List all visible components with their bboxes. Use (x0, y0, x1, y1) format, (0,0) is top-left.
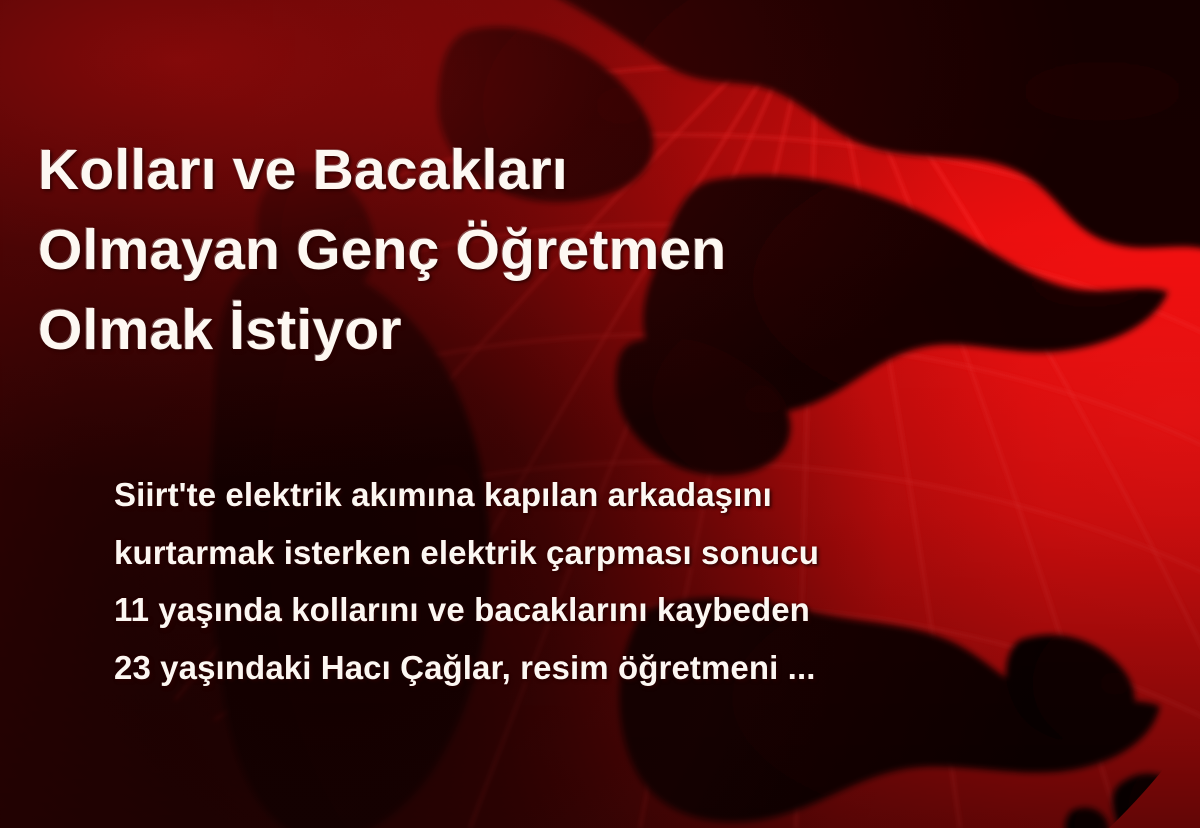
text-overlay: Kolları ve Bacakları Olmayan Genç Öğretm… (0, 0, 1200, 828)
page-title: Kolları ve Bacakları Olmayan Genç Öğretm… (38, 131, 1118, 370)
article-summary: Siirt'te elektrik akımına kapılan arkada… (114, 466, 1174, 696)
news-graphic: Kolları ve Bacakları Olmayan Genç Öğretm… (0, 0, 1200, 828)
